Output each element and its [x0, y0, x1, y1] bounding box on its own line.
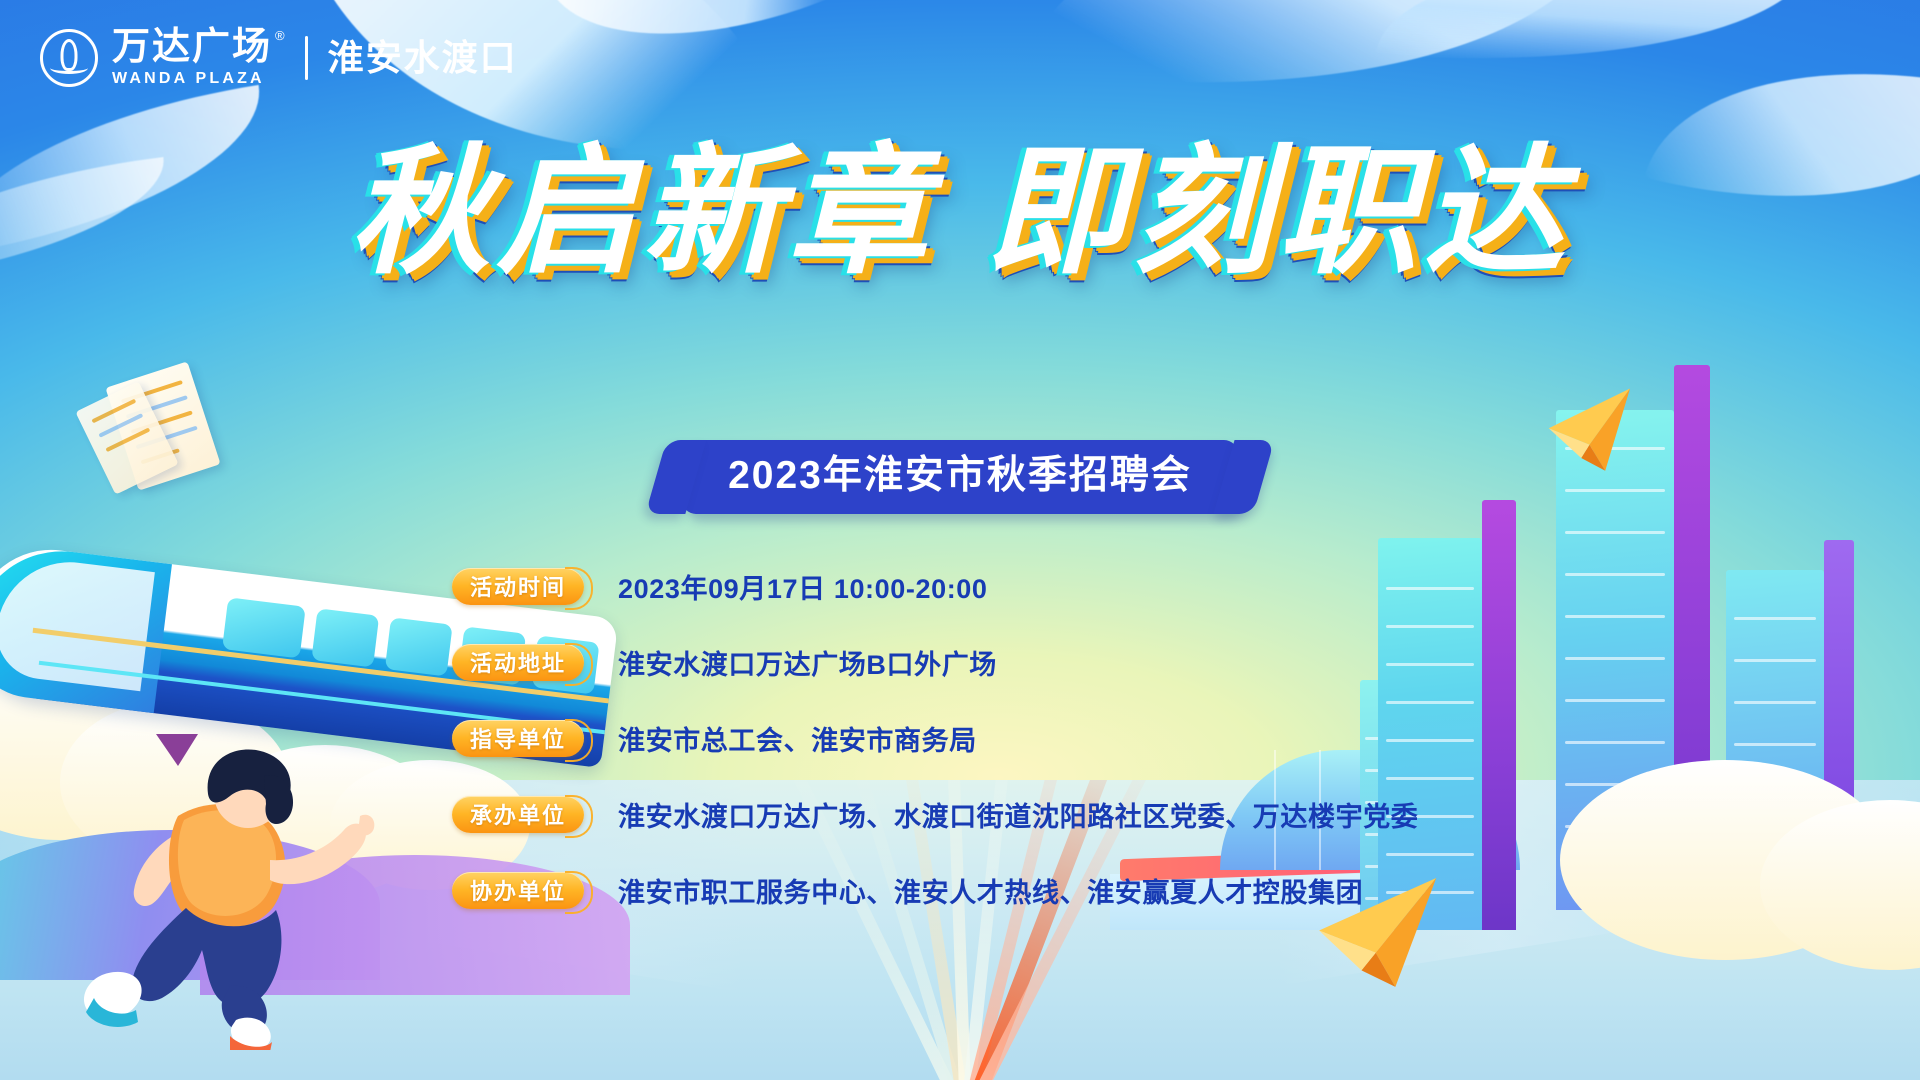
event-info-list: 活动时间 2023年09月17日 10:00-20:00 活动地址 淮安水渡口万…: [452, 560, 1418, 940]
info-value: 淮安市总工会、淮安市商务局: [618, 719, 977, 758]
logo-divider: [305, 36, 308, 80]
cloud-swoosh-4: [1376, 0, 1814, 85]
info-row: 协办单位 淮安市职工服务中心、淮安人才热线、淮安赢夏人才控股集团: [452, 864, 1418, 916]
cloud-swoosh-3: [1026, 0, 1614, 148]
info-label-badge: 活动时间: [452, 568, 584, 605]
brand-name-en: WANDA PLAZA: [112, 71, 285, 87]
tower-small: [1420, 780, 1446, 930]
subtitle-banner: 2023年淮安市秋季招聘会: [0, 440, 1920, 514]
promo-poster: 万达广场 ® WANDA PLAZA 淮安水渡口 秋启新章即刻职达 2023年淮…: [0, 0, 1920, 1080]
info-row: 指导单位 淮安市总工会、淮安市商务局: [452, 712, 1418, 764]
wanda-plaza-logo-icon: [40, 29, 98, 87]
info-value: 淮安市职工服务中心、淮安人才热线、淮安赢夏人才控股集团: [618, 871, 1363, 910]
registered-mark: ®: [275, 28, 285, 43]
headline-part-1: 秋启新章: [350, 138, 934, 286]
info-value: 淮安水渡口万达广场、水渡口街道沈阳路社区党委、万达楼宇党委: [618, 795, 1418, 834]
brand-location: 淮安水渡口: [328, 40, 518, 76]
brand-names: 万达广场 ® WANDA PLAZA: [112, 28, 285, 87]
info-label-badge: 承办单位: [452, 796, 584, 833]
brand-name-cn: 万达广场: [112, 28, 272, 66]
info-value: 淮安水渡口万达广场B口外广场: [618, 643, 997, 682]
page-title: 秋启新章即刻职达: [0, 138, 1920, 286]
train-window: [222, 597, 306, 658]
subtitle-text: 2023年淮安市秋季招聘会: [728, 454, 1192, 497]
train-window: [385, 617, 453, 676]
headline-part-2: 即刻职达: [986, 138, 1570, 286]
info-row: 承办单位 淮安水渡口万达广场、水渡口街道沈阳路社区党委、万达楼宇党委: [452, 788, 1418, 840]
info-row: 活动地址 淮安水渡口万达广场B口外广场: [452, 636, 1418, 688]
tower-a-side: [1482, 500, 1516, 930]
info-label-badge: 活动地址: [452, 644, 584, 681]
train-window: [311, 608, 379, 667]
info-row: 活动时间 2023年09月17日 10:00-20:00: [452, 560, 1418, 612]
info-label-badge: 协办单位: [452, 872, 584, 909]
subtitle-ribbon: 2023年淮安市秋季招聘会: [682, 440, 1238, 514]
cloud-swoosh-2: [547, 0, 833, 94]
brand-logo[interactable]: 万达广场 ® WANDA PLAZA 淮安水渡口: [40, 28, 518, 87]
info-label-badge: 指导单位: [452, 720, 584, 757]
info-value: 2023年09月17日 10:00-20:00: [618, 567, 988, 606]
